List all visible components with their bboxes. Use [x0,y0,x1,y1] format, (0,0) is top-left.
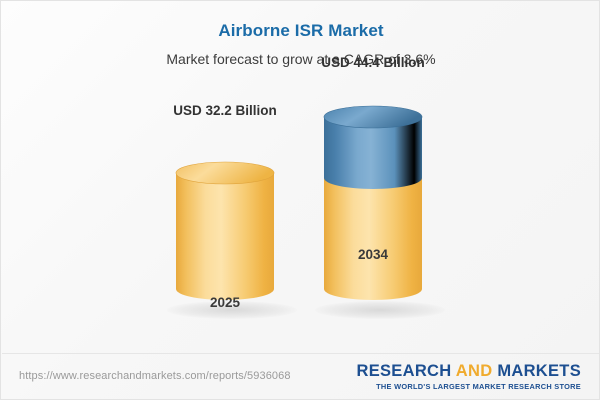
logo-tagline: THE WORLD'S LARGEST MARKET RESEARCH STOR… [356,382,581,391]
bar-value-label-2034: USD 44.4 Billion [263,55,483,70]
footer-divider [2,353,600,354]
bar-cylinder-2034 [263,103,483,311]
logo-word-markets: MARKETS [497,362,581,380]
report-url[interactable]: https://www.researchandmarkets.com/repor… [19,370,291,382]
logo-word-and: AND [456,362,493,380]
bar-group-2034: USD 44.4 Billion [263,83,483,311]
bar-category-label-2034: 2034 [263,247,483,262]
chart-card: Airborne ISR Market Market forecast to g… [0,0,600,400]
plot-area: USD 32.2 Billion [1,1,600,353]
logo-wordmark: RESEARCH AND MARKETS [356,363,581,380]
logo-word-research: RESEARCH [356,362,451,380]
research-and-markets-logo[interactable]: RESEARCH AND MARKETS THE WORLD'S LARGEST… [356,363,581,391]
